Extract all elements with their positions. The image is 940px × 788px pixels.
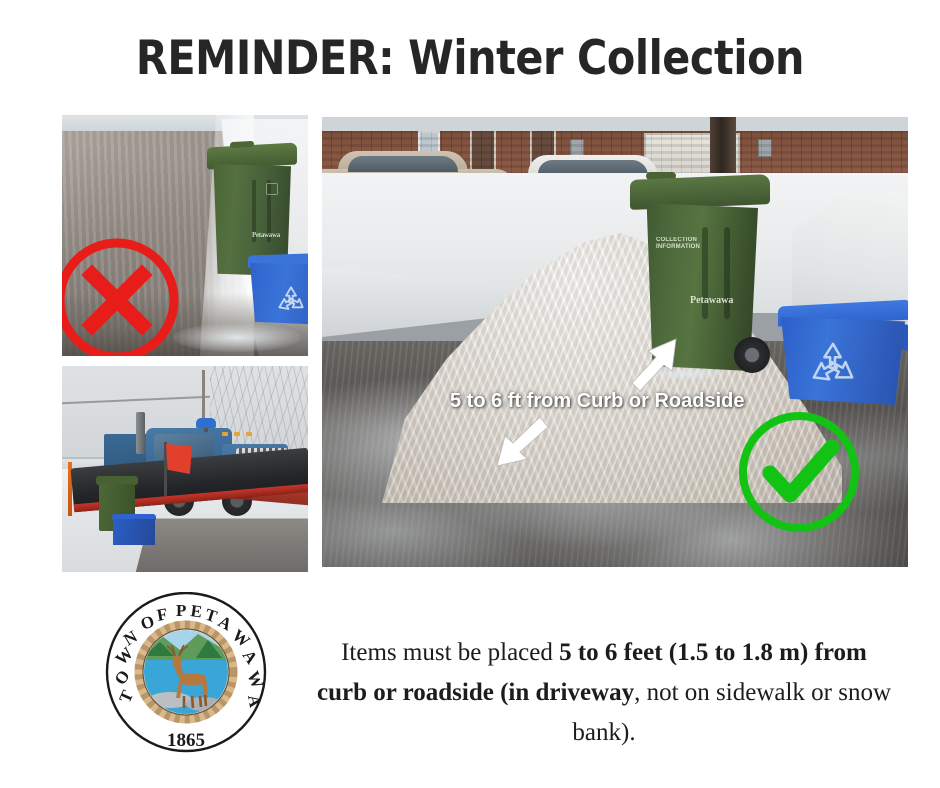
arrow-to-bin-icon — [618, 335, 678, 395]
cart-recycle-stamp — [266, 183, 278, 195]
photo-driveway-scene: COLLECTIONINFORMATION Petawawa 5 — [322, 117, 908, 567]
cab-marker-light — [246, 432, 252, 436]
cart-brand-decal: Petawawa — [252, 231, 286, 244]
seal-year: 1865 — [167, 730, 205, 751]
photo-curbside-scene: Petawawa — [62, 115, 308, 356]
recycling-symbol-icon — [274, 284, 308, 314]
distance-callout-text: 5 to 6 ft from Curb or Roadside — [450, 389, 744, 413]
town-of-petawawa-seal: T O W N O F P E T A W A W A 1865 — [100, 592, 272, 760]
cart-wheel — [734, 337, 770, 373]
cab-marker-light — [234, 432, 240, 436]
photo-snowplow-truck — [62, 366, 308, 572]
orange-marker-flag — [166, 444, 192, 474]
green-check-badge-icon — [734, 407, 864, 537]
svg-text:P: P — [176, 601, 186, 620]
box-front — [113, 519, 155, 545]
blue-recycling-box — [778, 303, 908, 407]
instruction-paragraph: Items must be placed 5 to 6 feet (1.5 to… — [316, 633, 892, 753]
red-x-badge-icon — [62, 235, 182, 356]
seal-emblem-scene — [144, 630, 228, 714]
car-windows — [348, 156, 458, 172]
cart-info-decal: COLLECTIONINFORMATION — [656, 237, 710, 253]
photo-snowplow-scene — [62, 366, 308, 572]
photo-curbside-incorrect: Petawawa — [62, 115, 308, 356]
exhaust-stack — [136, 412, 145, 454]
instruction-part-1: Items must be placed — [341, 639, 559, 666]
photo-driveway-correct: COLLECTIONINFORMATION Petawawa 5 — [322, 117, 908, 567]
cab-marker-light — [222, 432, 228, 436]
blue-recycling-box — [112, 514, 156, 546]
recycling-symbol-icon — [806, 339, 860, 387]
blue-recycling-box — [248, 254, 308, 327]
blue-beacon-light — [196, 418, 216, 428]
cart-brand-decal: Petawawa — [690, 295, 738, 315]
sky-strip — [322, 117, 908, 131]
page-title: REMINDER: Winter Collection — [56, 30, 883, 88]
arrow-to-road-icon — [494, 413, 556, 469]
svg-text:A: A — [244, 693, 265, 709]
utility-meter — [758, 139, 772, 157]
